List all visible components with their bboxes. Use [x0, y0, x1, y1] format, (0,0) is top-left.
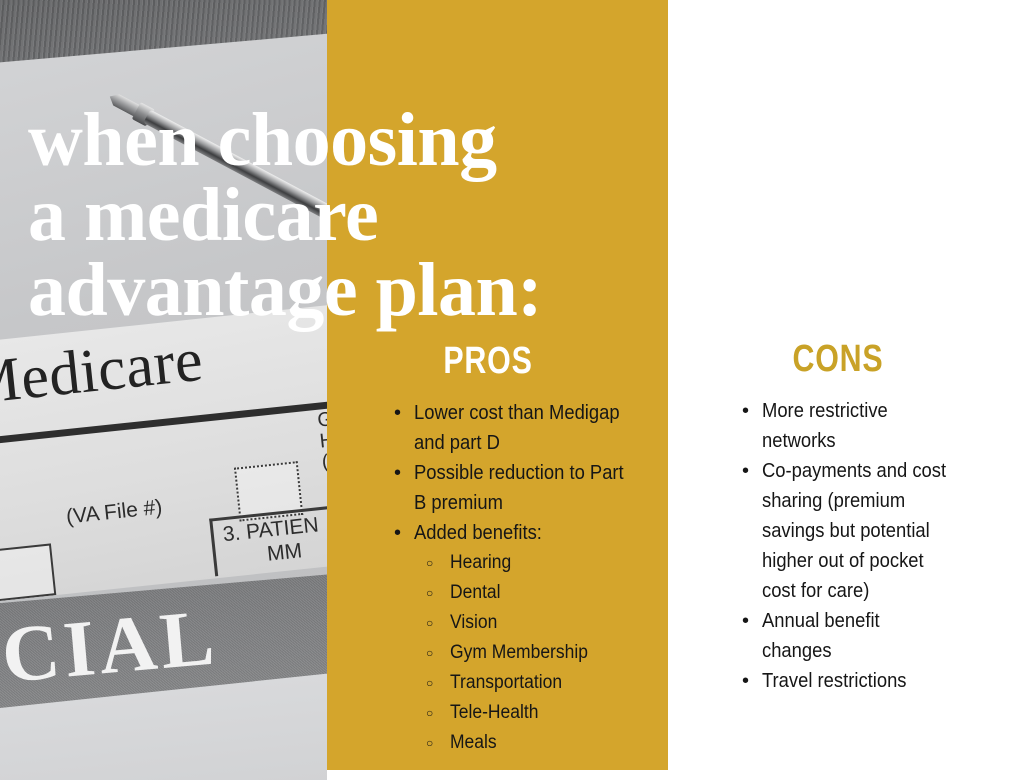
infographic-canvas: Medicare GROU HEAL (SS (VA File #) 3. PA… — [0, 0, 1024, 780]
medicare-form-card: Medicare GROU HEAL (SS (VA File #) 3. PA… — [0, 301, 327, 603]
cons-item-text: Annual benefit changes — [762, 606, 953, 666]
pros-subitem-text: Transportation — [450, 668, 638, 698]
va-file-label: (VA File #) — [65, 496, 163, 530]
list-item: Annual benefit changes — [740, 606, 970, 666]
list-item: Dental — [392, 578, 654, 608]
pros-subitem-text: Tele-Health — [450, 698, 638, 728]
list-item: Possible reduction to Part B premium — [392, 458, 654, 518]
pros-list: Lower cost than Medigap and part D Possi… — [392, 398, 654, 758]
form-subtitle-line-2: HEAL — [319, 425, 327, 452]
form-checkbox-solid — [0, 543, 56, 601]
form-subtitle-block: GROU HEAL (SS — [316, 405, 327, 474]
list-item: Vision — [392, 608, 654, 638]
list-item: Gym Membership — [392, 638, 654, 668]
page-title-line-2: a medicare — [28, 178, 688, 253]
page-title-line-1: when choosing — [28, 103, 688, 178]
pros-subitem-text: Gym Membership — [450, 638, 638, 668]
page-title: when choosing a medicare advantage plan: — [28, 103, 688, 328]
list-item: Travel restrictions — [740, 666, 970, 696]
form-rule-vertical — [209, 518, 218, 576]
cons-item-text: Travel restrictions — [762, 666, 953, 696]
list-item: Hearing — [392, 548, 654, 578]
form-subtitle-line-1: GROU — [316, 405, 327, 432]
pros-item-text: Possible reduction to Part B premium — [414, 458, 635, 518]
list-item: Lower cost than Medigap and part D — [392, 398, 654, 458]
list-item: Tele-Health — [392, 698, 654, 728]
pros-subitem-text: Meals — [450, 728, 638, 758]
list-item: Added benefits: — [392, 518, 654, 548]
cons-item-text: Co-payments and cost sharing (premium sa… — [762, 456, 953, 606]
list-item: More restrictive networks — [740, 396, 970, 456]
patient-sub-label: MM — [266, 539, 303, 567]
pros-item-text: Added benefits: — [414, 518, 635, 548]
list-item: Meals — [392, 728, 654, 758]
pros-subitem-text: Hearing — [450, 548, 638, 578]
pros-heading: PROS — [416, 342, 560, 380]
pros-subitem-text: Dental — [450, 578, 638, 608]
pros-item-text: Lower cost than Medigap and part D — [414, 398, 635, 458]
form-title-text: Medicare — [0, 325, 206, 420]
page-title-line-3: advantage plan: — [28, 253, 688, 328]
list-item: Co-payments and cost sharing (premium sa… — [740, 456, 970, 606]
cons-list: More restrictive networks Co-payments an… — [740, 396, 970, 696]
pros-subitem-text: Vision — [450, 608, 638, 638]
list-item: Transportation — [392, 668, 654, 698]
cons-item-text: More restrictive networks — [762, 396, 953, 456]
cons-heading: CONS — [766, 340, 910, 378]
